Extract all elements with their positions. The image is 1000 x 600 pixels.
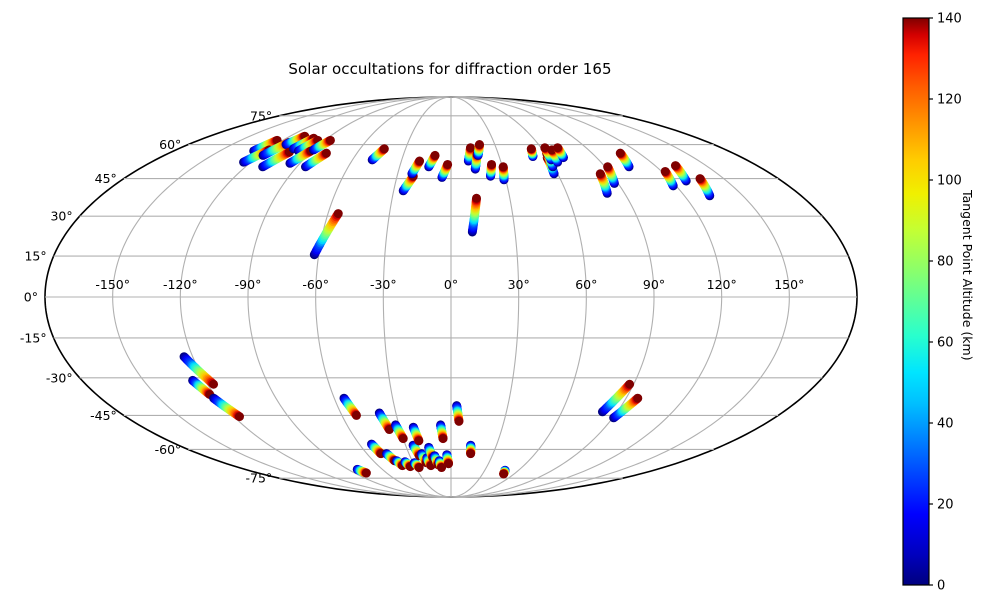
colorbar-gradient — [903, 18, 929, 585]
latitude-tick-label: -45° — [90, 408, 117, 423]
data-point — [696, 174, 705, 183]
occultation-track — [466, 441, 475, 458]
colorbar-tick-label: 140 — [937, 12, 962, 27]
data-point — [322, 149, 331, 158]
data-point — [603, 162, 612, 171]
data-point — [414, 436, 423, 445]
data-point — [209, 380, 218, 389]
data-point — [454, 417, 463, 426]
longitude-tick-label: 0° — [444, 277, 458, 292]
data-point — [633, 394, 642, 403]
longitude-tick-label: 60° — [575, 277, 597, 292]
latitude-tick-label: 0° — [24, 290, 38, 305]
colorbar[interactable]: 020406080100120140 — [903, 12, 962, 594]
latitude-tick-label: 75° — [250, 108, 272, 123]
latitude-tick-label: -30° — [46, 370, 73, 385]
data-point — [596, 169, 605, 178]
data-point — [661, 167, 670, 176]
latitude-tick-label: -60° — [155, 442, 182, 457]
longitude-tick-label: -60° — [302, 277, 329, 292]
colorbar-ticks: 020406080100120140 — [929, 12, 962, 594]
occultation-track — [486, 160, 496, 181]
figure-canvas: Solar occultations for diffraction order… — [0, 0, 1000, 600]
data-point — [399, 434, 408, 443]
data-point — [625, 380, 634, 389]
latitude-tick-label: 15° — [24, 249, 46, 264]
latitude-tick-label: -75° — [246, 471, 273, 486]
data-point — [352, 411, 361, 420]
colorbar-axis-label: Tangent Point Altitude (km) — [960, 190, 975, 361]
data-point — [487, 160, 496, 169]
data-point — [362, 469, 371, 478]
longitude-tick-label: -30° — [370, 277, 397, 292]
colorbar-tick-label: 20 — [937, 498, 954, 513]
latitude-tick-label: 60° — [159, 137, 181, 152]
latitude-tick-label: -15° — [20, 330, 47, 345]
data-point — [671, 161, 680, 170]
data-point — [499, 162, 508, 171]
data-point — [380, 144, 389, 153]
longitude-tick-label: -90° — [235, 277, 262, 292]
colorbar-tick-label: 0 — [937, 579, 945, 594]
data-point — [235, 412, 244, 421]
data-point — [616, 149, 625, 158]
data-point — [444, 459, 453, 468]
data-point — [443, 160, 452, 169]
longitude-tick-label: 150° — [774, 277, 804, 292]
longitude-tick-label: 90° — [643, 277, 665, 292]
data-point — [431, 151, 440, 160]
colorbar-tick-label: 100 — [937, 174, 962, 189]
mollweide-map: -150°-120°-90°-60°-30°0°30°60°90°120°150… — [0, 0, 1000, 600]
data-point — [475, 140, 484, 149]
longitude-tick-label: 30° — [508, 277, 530, 292]
data-point — [439, 434, 448, 443]
colorbar-tick-label: 40 — [937, 417, 954, 432]
data-point — [553, 143, 562, 152]
colorbar-tick-label: 80 — [937, 255, 954, 270]
data-point — [472, 194, 481, 203]
colorbar-tick-label: 120 — [937, 93, 962, 108]
data-point — [466, 449, 475, 458]
data-point — [466, 143, 475, 152]
longitude-tick-label: -150° — [95, 277, 130, 292]
longitude-tick-label: -120° — [163, 277, 198, 292]
colorbar-tick-label: 60 — [937, 336, 954, 351]
data-point — [499, 469, 508, 478]
data-point — [415, 157, 424, 166]
occultation-track — [499, 162, 509, 184]
latitude-tick-label: 30° — [50, 209, 72, 224]
data-point — [334, 209, 343, 218]
data-point — [326, 136, 335, 145]
latitude-tick-label: 45° — [95, 171, 117, 186]
data-point — [527, 144, 536, 153]
longitude-tick-label: 120° — [707, 277, 737, 292]
